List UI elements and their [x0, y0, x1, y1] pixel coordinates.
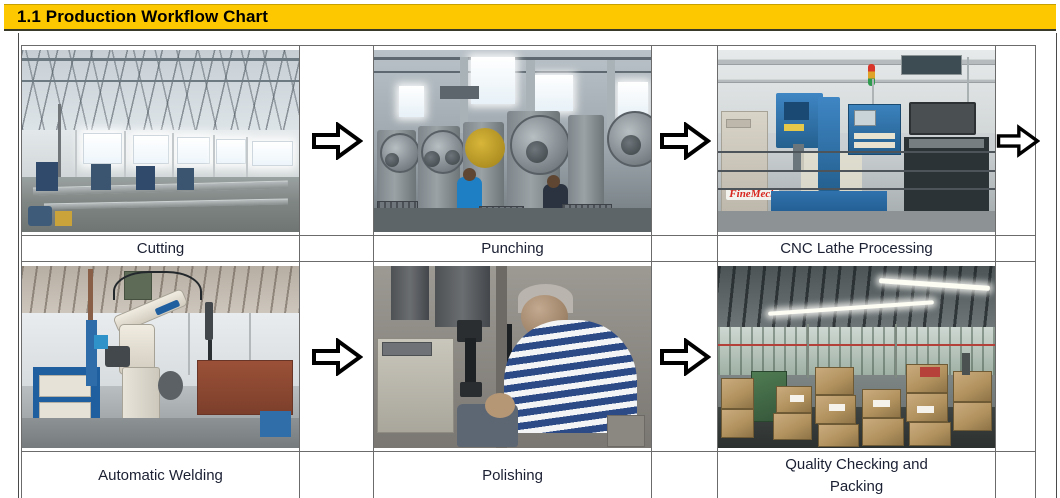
arrow-cell-5	[652, 262, 718, 452]
caption-punching: Punching	[374, 236, 652, 262]
arrow-cell-6-empty	[996, 262, 1036, 452]
arrow-cell-2	[652, 46, 718, 236]
right-arrow-icon	[659, 338, 711, 376]
page-frame-right-border	[1056, 33, 1057, 498]
photo-cutting	[22, 50, 299, 232]
photo-punching	[374, 50, 651, 232]
workflow-row-1-photos: FineMech	[22, 46, 1036, 236]
page-frame-left-border	[18, 33, 19, 498]
photo-polishing	[374, 266, 651, 448]
caption-spacer-3	[996, 236, 1036, 262]
caption-cnc-lathe: CNC Lathe Processing	[718, 236, 996, 262]
right-arrow-icon	[311, 338, 363, 376]
section-header-bar: 1.1 Production Workflow Chart	[4, 4, 1056, 31]
caption-cutting: Cutting	[22, 236, 300, 262]
photo-cnc-lathe: FineMech	[718, 50, 995, 232]
arrow-cell-3	[996, 46, 1036, 236]
workflow-table: FineMech	[21, 45, 1036, 498]
page-title: 1.1 Production Workflow Chart	[4, 7, 268, 27]
caption-spacer-4	[300, 452, 374, 498]
caption-polishing: Polishing	[374, 452, 652, 498]
caption-spacer-2	[652, 236, 718, 262]
photo-cell-cutting	[22, 46, 300, 236]
caption-automatic-welding: Automatic Welding	[22, 452, 300, 498]
arrow-cell-1	[300, 46, 374, 236]
photo-cell-punching	[374, 46, 652, 236]
photo-cell-quality-checking	[718, 262, 996, 452]
photo-cell-cnc-lathe: FineMech	[718, 46, 996, 236]
caption-spacer-5	[652, 452, 718, 498]
photo-automatic-welding	[22, 266, 299, 448]
caption-quality-checking-packing: Quality Checking and Packing	[718, 452, 996, 498]
caption-spacer-1	[300, 236, 374, 262]
workflow-row-2-captions: Automatic Welding Polishing Quality Chec…	[22, 452, 1036, 498]
photo-cell-automatic-welding	[22, 262, 300, 452]
workflow-row-2-photos	[22, 262, 1036, 452]
workflow-row-1-captions: Cutting Punching CNC Lathe Processing	[22, 236, 1036, 262]
right-arrow-icon	[659, 122, 711, 160]
right-arrow-icon	[311, 122, 363, 160]
production-workflow-page: 1.1 Production Workflow Chart	[0, 0, 1060, 498]
photo-cell-polishing	[374, 262, 652, 452]
photo-quality-checking-packing	[718, 266, 995, 448]
arrow-cell-4	[300, 262, 374, 452]
caption-spacer-6	[996, 452, 1036, 498]
right-arrow-icon	[996, 122, 1040, 160]
